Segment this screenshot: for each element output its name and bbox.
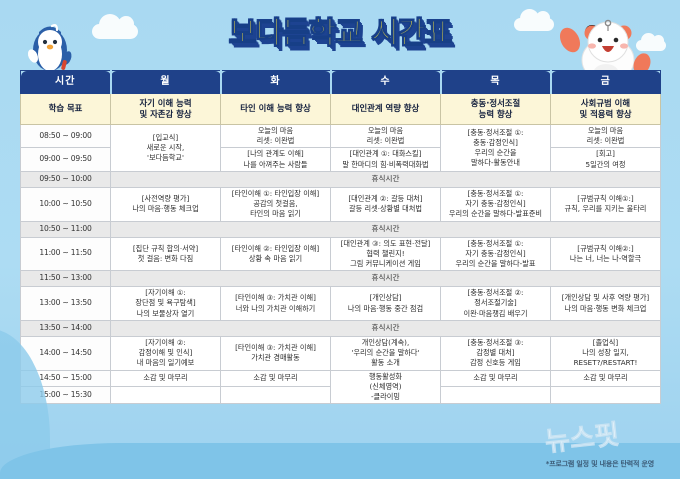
time-slot: 13:00 ~ 13:50 xyxy=(21,287,111,321)
session-cell xyxy=(551,387,661,404)
break-label: 휴식시간 xyxy=(111,221,661,237)
session-cell xyxy=(111,387,221,404)
session-cell: 소감 및 마무리 xyxy=(441,370,551,387)
session-cell: [대인관계 ②: 갈등 대처] 갈등 리셋·상황별 대처법 xyxy=(331,187,441,221)
column-header-day-월: 월 xyxy=(111,71,221,94)
session-cell: [자기이해 ②: 감정이해 및 인식] 내 마음의 일기예보 xyxy=(111,336,221,370)
learning-goal-cell-1: 자기 이해 능력 및 자존감 향상 xyxy=(111,94,221,125)
poster-canvas: 보다듬학교 시간표 시간월화수목금 학습 목표자기 이해 능력 및 자존감 향상… xyxy=(0,0,680,479)
break-label: 휴식시간 xyxy=(111,171,661,187)
column-header-day-화: 화 xyxy=(221,71,331,94)
learning-goal-row: 학습 목표자기 이해 능력 및 자존감 향상타인 이해 능력 향상대인관계 역량… xyxy=(21,94,661,125)
learning-goal-label: 학습 목표 xyxy=(21,94,111,125)
session-cell xyxy=(441,387,551,404)
session-cell: 오늘의 마음 리셋: 이완법 xyxy=(221,125,331,148)
break-label: 휴식시간 xyxy=(111,271,661,287)
column-header-time: 시간 xyxy=(21,71,111,94)
session-cell: [충동·정서조절 ①: 자기 충동·감정인식] 우리의 순간을 말하다-발표 xyxy=(441,237,551,271)
column-header-day-수: 수 xyxy=(331,71,441,94)
session-cell: [졸업식] 나의 성장 일지, RESET?/RESTART! xyxy=(551,336,661,370)
time-slot: 09:50 ~ 10:00 xyxy=(21,171,111,187)
session-cell: 소감 및 마무리 xyxy=(111,370,221,387)
class-row: 11:00 ~ 11:50[집단 규칙 합의·서약] 첫 걸음: 변화 다짐[타… xyxy=(21,237,661,271)
time-slot: 11:00 ~ 11:50 xyxy=(21,237,111,271)
page-title: 보다듬학교 시간표 xyxy=(219,6,461,54)
learning-goal-cell-3: 대인관계 역량 향상 xyxy=(331,94,441,125)
poster-title-wrapper: 보다듬학교 시간표 xyxy=(0,6,680,54)
session-cell xyxy=(221,387,331,404)
time-slot: 10:00 ~ 10:50 xyxy=(21,187,111,221)
session-cell: [충동·정서조절 ①: 자기 충동·감정인식] 우리의 순간을 말하다-발표준비 xyxy=(441,187,551,221)
session-cell: 오늘의 마음 리셋: 이완법 xyxy=(551,125,661,148)
session-cell: 소감 및 마무리 xyxy=(221,370,331,387)
time-slot: 13:50 ~ 14:00 xyxy=(21,320,111,336)
session-cell: 개인상담(계속), '우리의 순간을 말하다' 활동 소개 xyxy=(331,336,441,370)
footnote: *프로그램 일정 및 내용은 탄력적 운영 xyxy=(546,459,654,469)
column-header-day-금: 금 xyxy=(551,71,661,94)
session-cell: [규범규칙 이해①:] 규칙, 우리를 지키는 울타리 xyxy=(551,187,661,221)
time-slot: 08:50 ~ 09:00 xyxy=(21,125,111,148)
timetable-header-row: 시간월화수목금 xyxy=(21,71,661,94)
session-cell: [타인이해 ①: 타인입장 이해] 공감의 첫걸음, 타인의 마음 읽기 xyxy=(221,187,331,221)
class-row: 13:00 ~ 13:50[자기이해 ①: 장단점 및 욕구탐색] 나의 보물상… xyxy=(21,287,661,321)
timetable-card: 시간월화수목금 학습 목표자기 이해 능력 및 자존감 향상타인 이해 능력 향… xyxy=(20,70,660,404)
session-cell: [충동·정서조절 ③: 감정별 대처] 감정 신호등 게임 xyxy=(441,336,551,370)
timetable: 시간월화수목금 학습 목표자기 이해 능력 및 자존감 향상타인 이해 능력 향… xyxy=(20,70,661,404)
learning-goal-cell-5: 사회규범 이해 및 적용력 향상 xyxy=(551,94,661,125)
session-cell: [충동·정서조절 ②: 정서조절기술] 이완·마음챙김 배우기 xyxy=(441,287,551,321)
session-cell: [입교식] 새로운 시작, '보다듬학교' xyxy=(111,125,221,172)
break-row: 10:50 ~ 11:00휴식시간 xyxy=(21,221,661,237)
session-cell: [타인이해 ③: 가치관 이해] 너와 나의 가치관 이해하기 xyxy=(221,287,331,321)
session-cell: [나의 관계도 이해] 나를 아껴주는 사람들 xyxy=(221,148,331,171)
session-cell: [개인상담] 나의 마음·행동 중간 점검 xyxy=(331,287,441,321)
timetable-head: 시간월화수목금 xyxy=(21,71,661,94)
session-cell: [타인이해 ③: 가치관 이해] 가치관 경매활동 xyxy=(221,336,331,370)
session-cell: [사전역량 평가] 나의 마음·행동 체크업 xyxy=(111,187,221,221)
timetable-body: 학습 목표자기 이해 능력 및 자존감 향상타인 이해 능력 향상대인관계 역량… xyxy=(21,94,661,404)
learning-goal-cell-2: 타인 이해 능력 향상 xyxy=(221,94,331,125)
session-cell: 행동활성화 (신체영역) -클라이밍 xyxy=(331,370,441,404)
class-row: 14:50 ~ 15:00소감 및 마무리소감 및 마무리행동활성화 (신체영역… xyxy=(21,370,661,387)
break-row: 11:50 ~ 13:00휴식시간 xyxy=(21,271,661,287)
class-row: 08:50 ~ 09:00[입교식] 새로운 시작, '보다듬학교'오늘의 마음… xyxy=(21,125,661,148)
session-cell: [개인상담 및 사후 역량 평가] 나의 마음·행동 변화 체크업 xyxy=(551,287,661,321)
class-row: 10:00 ~ 10:50[사전역량 평가] 나의 마음·행동 체크업[타인이해… xyxy=(21,187,661,221)
session-cell: [타인이해 ②: 타인입장 이해] 상황 속 마음 읽기 xyxy=(221,237,331,271)
learning-goal-cell-4: 충동·정서조절 능력 향상 xyxy=(441,94,551,125)
class-row: 14:00 ~ 14:50[자기이해 ②: 감정이해 및 인식] 내 마음의 일… xyxy=(21,336,661,370)
session-cell: [규범규칙 이해②:] 나는 너, 너는 나-역할극 xyxy=(551,237,661,271)
break-row: 13:50 ~ 14:00휴식시간 xyxy=(21,320,661,336)
session-cell: [자기이해 ①: 장단점 및 욕구탐색] 나의 보물상자 열기 xyxy=(111,287,221,321)
session-cell: 오늘의 마음 리셋: 이완법 xyxy=(331,125,441,148)
session-cell: 소감 및 마무리 xyxy=(551,370,661,387)
session-cell: [충동·정서조절 ①: 충동·감정인식] 우리의 순간을 말하다-활동안내 xyxy=(441,125,551,172)
break-label: 휴식시간 xyxy=(111,320,661,336)
time-slot: 09:00 ~ 09:50 xyxy=(21,148,111,171)
time-slot: 11:50 ~ 13:00 xyxy=(21,271,111,287)
break-row: 09:50 ~ 10:00휴식시간 xyxy=(21,171,661,187)
session-cell: [회고] 5일간의 여정 xyxy=(551,148,661,171)
session-cell: [집단 규칙 합의·서약] 첫 걸음: 변화 다짐 xyxy=(111,237,221,271)
column-header-day-목: 목 xyxy=(441,71,551,94)
time-slot: 10:50 ~ 11:00 xyxy=(21,221,111,237)
session-cell: [대인관계 ③: 의도 표현·전달] 협력 챌린지! 그림 커뮤니케이션 게임 xyxy=(331,237,441,271)
session-cell: [대인관계 ①: 대화스킬] 말 한마디의 힘·비폭력대화법 xyxy=(331,148,441,171)
